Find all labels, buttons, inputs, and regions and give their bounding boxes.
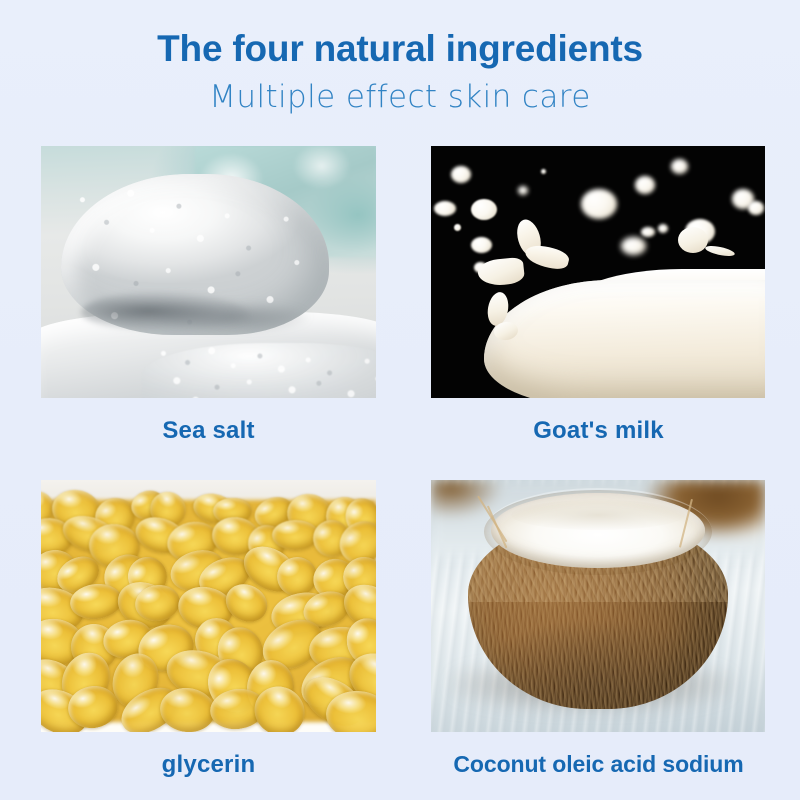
milk-droplet: [471, 237, 492, 253]
ingredient-label-glycerin: glycerin: [41, 751, 376, 779]
milk-droplet: [635, 176, 655, 194]
ingredient-card-sea-salt[interactable]: Sea salt: [41, 146, 376, 445]
milk-droplet: [671, 159, 688, 174]
ingredient-label-goats-milk: Goat's milk: [431, 417, 766, 445]
milk-droplet: [581, 189, 617, 219]
page-title: The four natural ingredients: [0, 26, 800, 72]
ingredient-card-glycerin[interactable]: glycerin: [41, 480, 376, 779]
page-subtitle: Multiple effect skin care: [0, 76, 800, 118]
milk-droplet: [641, 227, 655, 237]
goats-milk-photo: [431, 146, 765, 398]
milk-droplet: [621, 237, 646, 255]
coconut-photo: [431, 480, 765, 732]
ingredient-card-coconut[interactable]: Coconut oleic acid sodium: [431, 480, 766, 778]
milk-tendril: [678, 227, 708, 253]
salt-grain-texture-foreground: [142, 343, 377, 398]
header: The four natural ingredients Multiple ef…: [0, 26, 800, 118]
ingredient-grid: Sea salt: [41, 146, 765, 776]
salt-foreground-ledge: [142, 343, 377, 398]
glycerin-photo: [41, 480, 376, 732]
ingredient-label-coconut: Coconut oleic acid sodium: [431, 751, 766, 778]
milk-droplet: [471, 199, 497, 220]
ingredients-infographic: The four natural ingredients Multiple ef…: [0, 0, 800, 800]
coconut-rim: [484, 488, 711, 576]
ingredient-card-goats-milk[interactable]: Goat's milk: [431, 146, 766, 445]
sea-salt-photo: [41, 146, 376, 398]
milk-droplet: [541, 169, 546, 174]
ingredient-label-sea-salt: Sea salt: [41, 417, 376, 445]
